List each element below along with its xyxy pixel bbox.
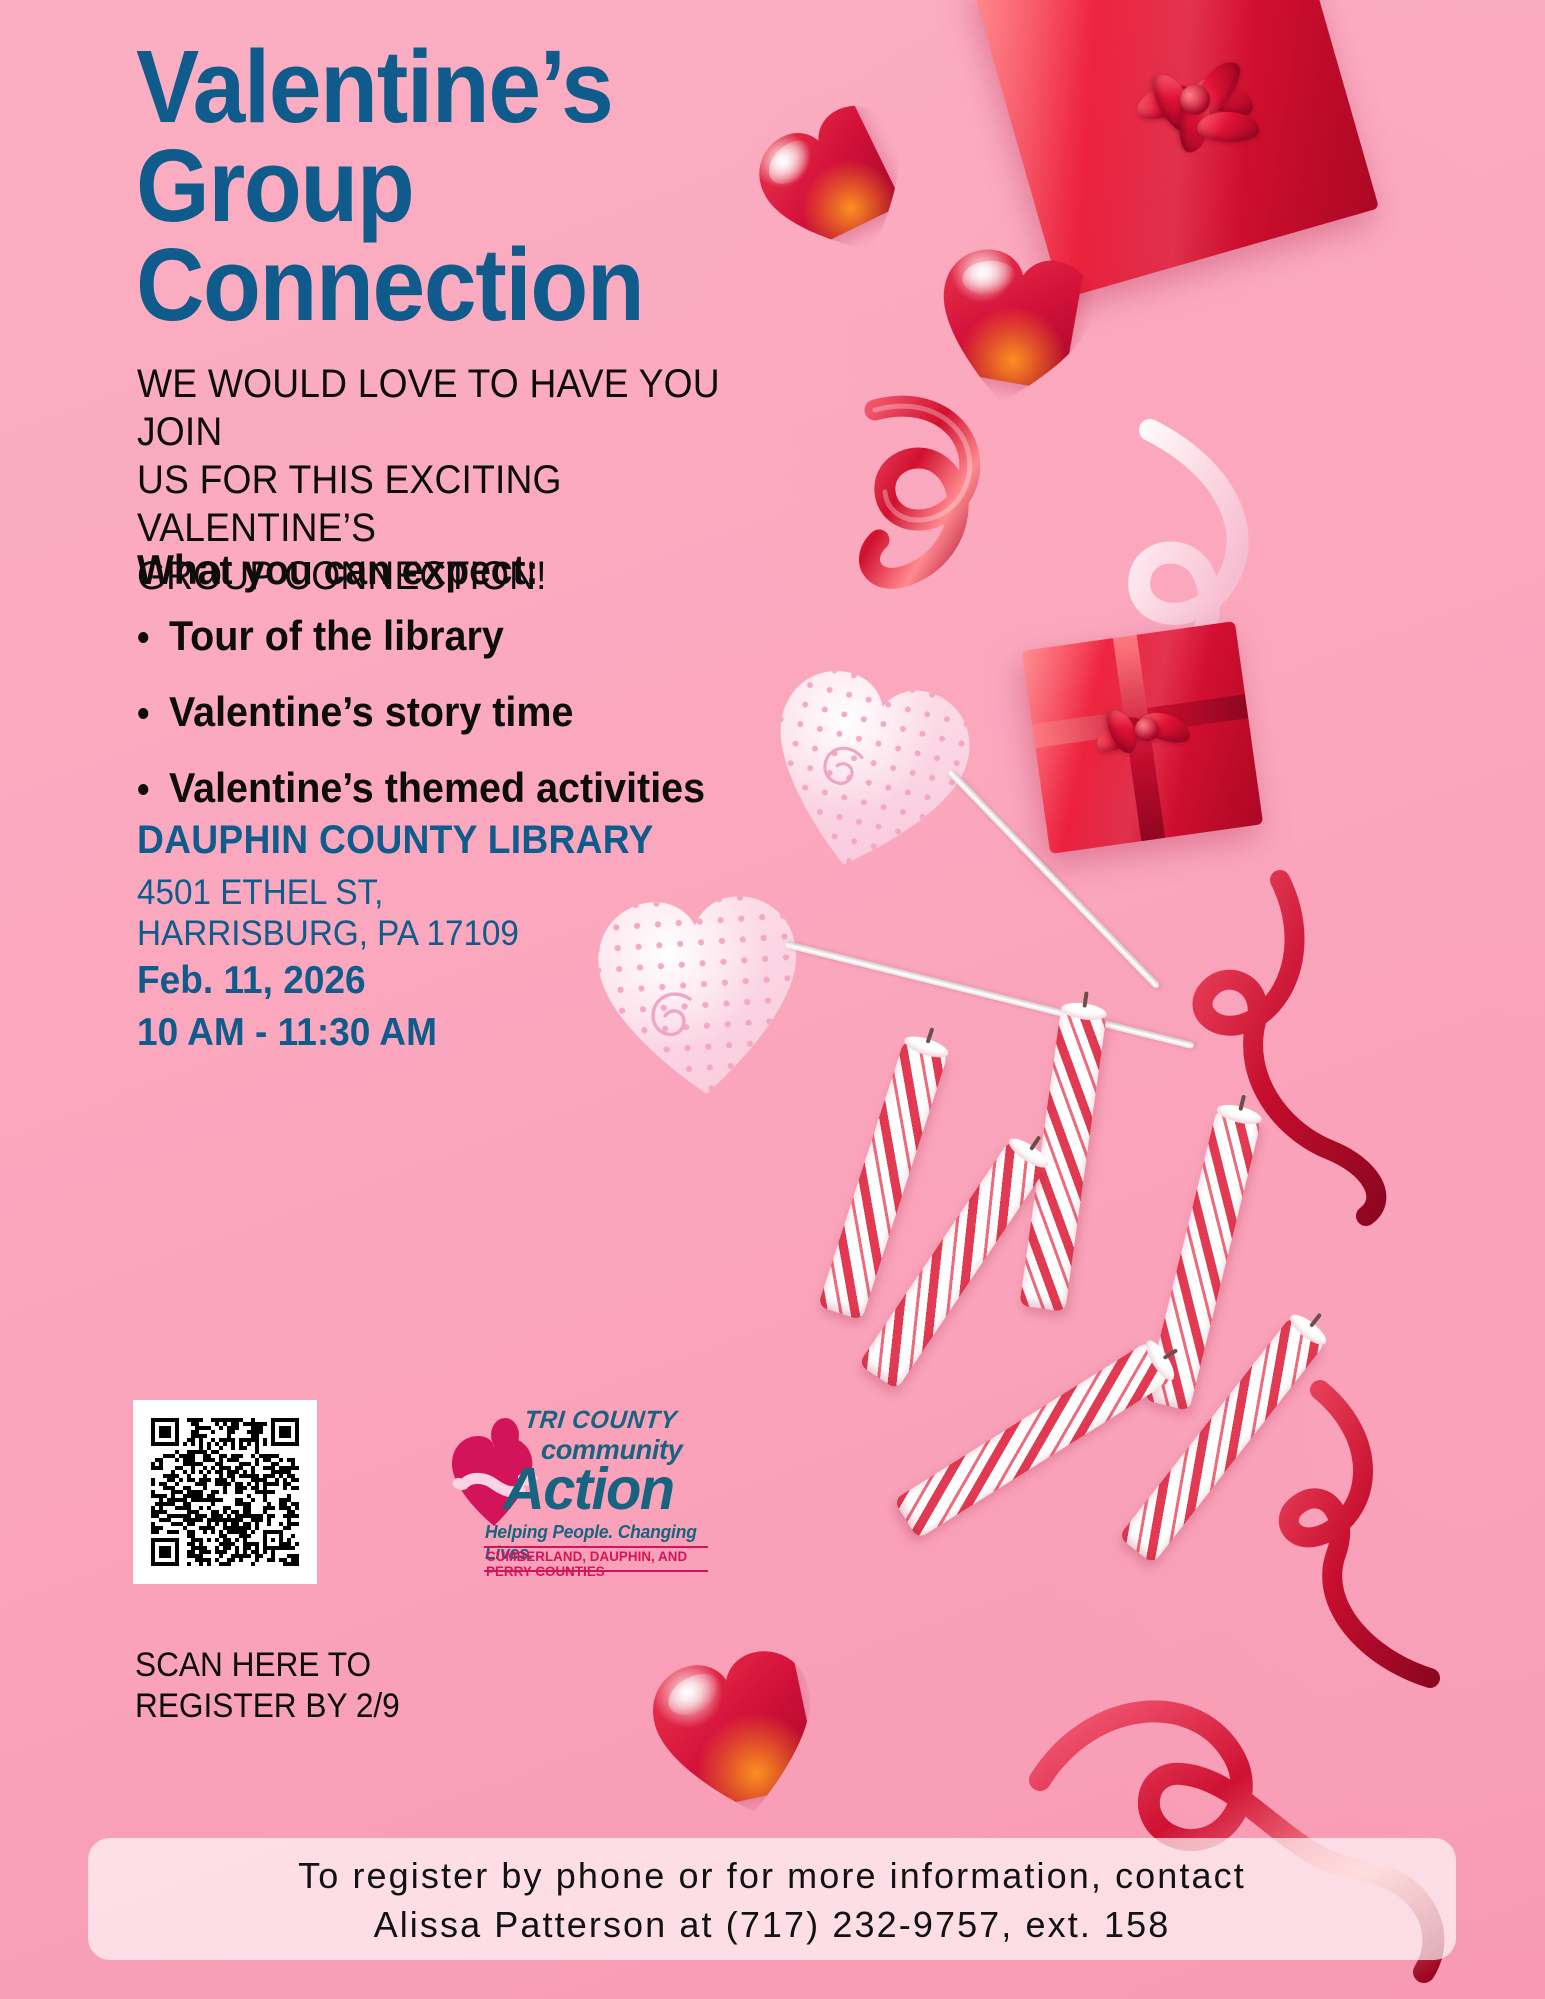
logo-divider-bottom xyxy=(484,1570,708,1572)
logo-divider-top xyxy=(484,1546,708,1548)
logo-counties-text: CUMBERLAND, DAUPHIN, AND PERRY COUNTIES xyxy=(486,1549,708,1579)
list-item: • Valentine’s themed activities xyxy=(137,764,851,812)
expectations-heading: What you can expect: xyxy=(137,546,539,594)
bullet-dot-icon: • xyxy=(137,619,169,657)
venue-address: 4501 ETHEL ST, HARRISBURG, PA 17109 xyxy=(137,872,519,955)
contact-line-2: Alissa Patterson at (717) 232-9757, ext.… xyxy=(88,1904,1456,1946)
contact-banner: To register by phone or for more informa… xyxy=(88,1838,1456,1960)
expectations-list: • Tour of the library • Valentine’s stor… xyxy=(137,612,897,840)
scan-instruction: SCAN HERE TO REGISTER BY 2/9 xyxy=(135,1645,400,1727)
bullet-dot-icon: • xyxy=(137,771,169,809)
logo-action-text: Action xyxy=(503,1455,673,1523)
bullet-dot-icon: • xyxy=(137,695,169,733)
list-item: • Valentine’s story time xyxy=(137,688,851,736)
list-item-label: Valentine’s themed activities xyxy=(169,764,705,812)
event-datetime: Feb. 11, 2026 10 AM - 11:30 AM xyxy=(137,955,437,1059)
tri-county-community-action-logo: TRI COUNTY community Action Helping Peop… xyxy=(448,1400,710,1590)
list-item-label: Valentine’s story time xyxy=(169,688,573,736)
list-item-label: Tour of the library xyxy=(169,612,504,660)
logo-tri-county-text: TRI COUNTY xyxy=(523,1406,678,1435)
list-item: • Tour of the library xyxy=(137,612,851,660)
page-title: Valentine’s Group Connection xyxy=(136,38,643,335)
contact-line-1: To register by phone or for more informa… xyxy=(88,1855,1456,1897)
valentines-flyer: Valentine’s Group Connection WE WOULD LO… xyxy=(0,0,1545,1999)
venue-name: DAUPHIN COUNTY LIBRARY xyxy=(137,818,654,863)
qr-code[interactable] xyxy=(133,1400,317,1584)
